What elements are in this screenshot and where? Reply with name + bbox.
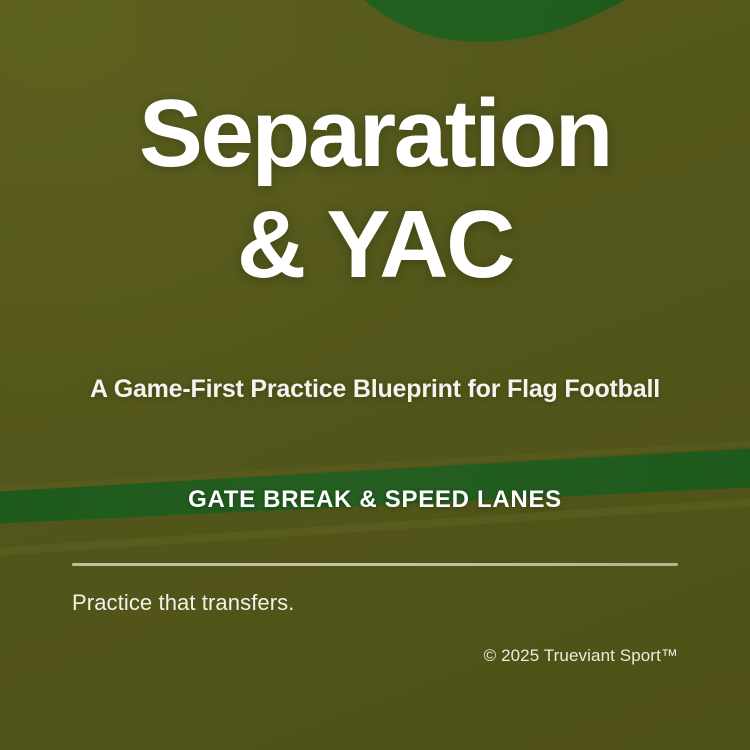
- subtitle: A Game-First Practice Blueprint for Flag…: [70, 372, 680, 408]
- page-title: Separation & YAC: [0, 78, 750, 301]
- title-line-2: & YAC: [40, 189, 710, 300]
- title-slide: Separation & YAC A Game-First Practice B…: [0, 0, 750, 750]
- title-line-1: Separation: [40, 78, 710, 189]
- tagline: Practice that transfers.: [72, 590, 295, 616]
- horizontal-divider: [72, 563, 678, 566]
- slide-content: Separation & YAC A Game-First Practice B…: [0, 0, 750, 750]
- copyright-notice: © 2025 Trueviant Sport™: [484, 646, 678, 666]
- section-eyebrow: GATE BREAK & SPEED LANES: [0, 486, 750, 514]
